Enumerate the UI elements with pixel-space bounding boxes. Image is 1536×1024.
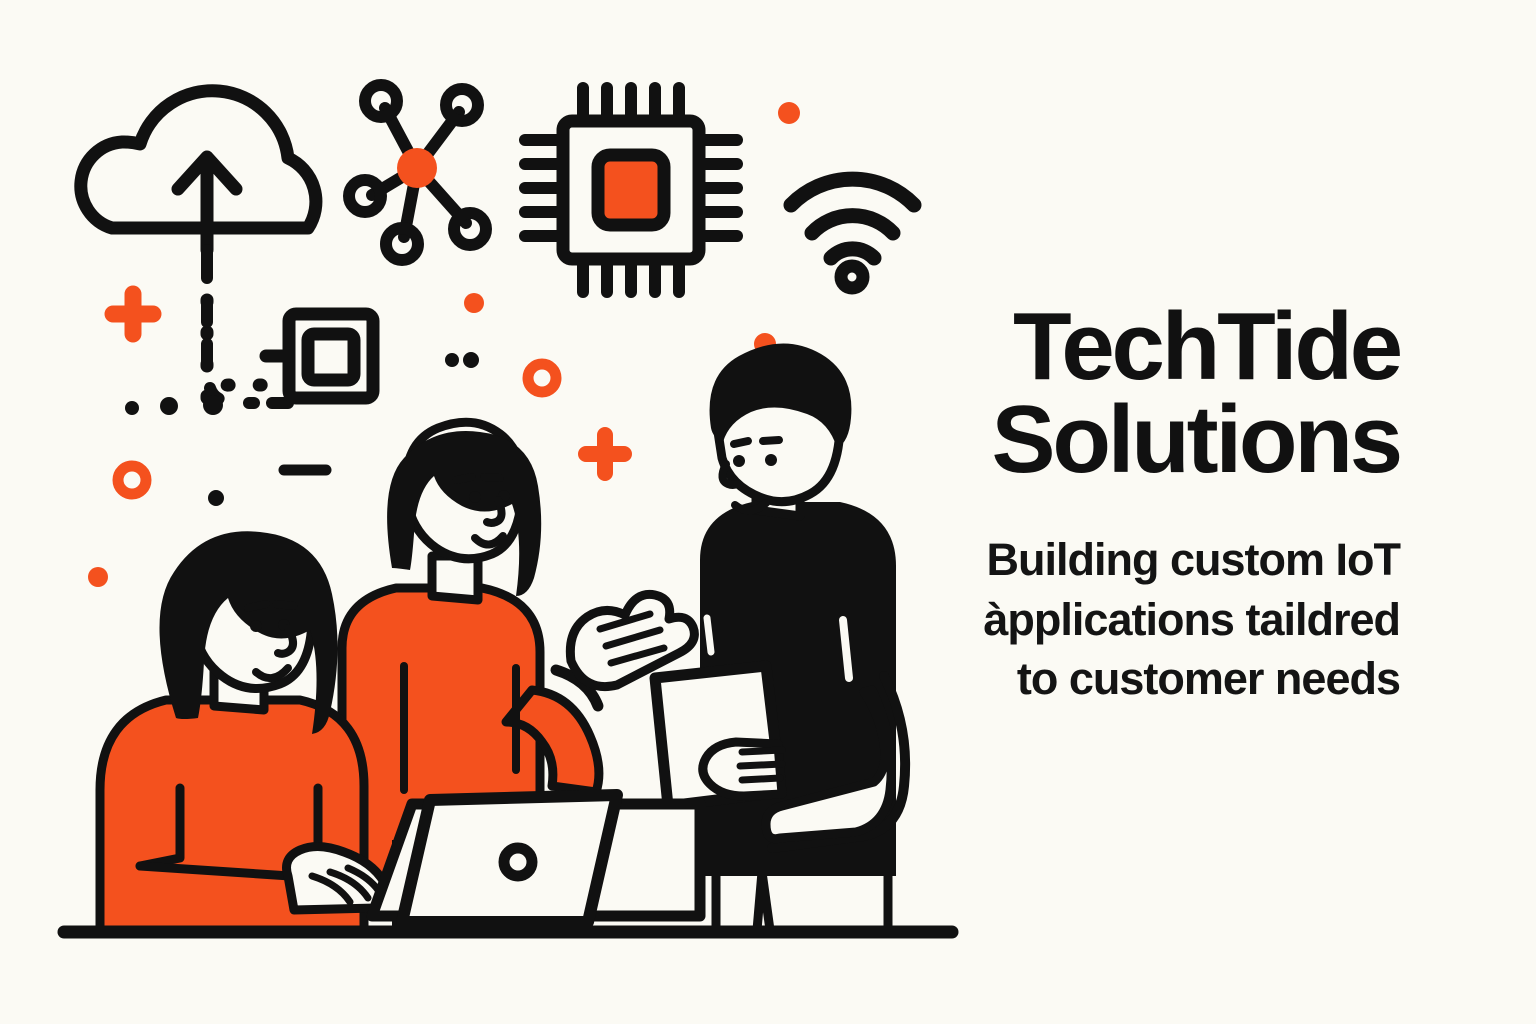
microchip-core <box>598 155 664 225</box>
network-hub-center-node <box>397 148 437 188</box>
decoration-dot-black-a <box>125 401 139 415</box>
decoration-dot-orange-a <box>88 567 108 587</box>
subhead-line-2: àpplications taildred <box>840 590 1400 649</box>
decoration-dot-black-d <box>208 490 224 506</box>
page-title: TechTide Solutions <box>840 300 1400 486</box>
poster-canvas: TechTide Solutions Building custom IoT à… <box>0 0 1536 1024</box>
decoration-dot-black-e <box>445 353 459 367</box>
subhead-line-1: Building custom IoT <box>840 530 1400 589</box>
decoration-dot-orange-b <box>464 293 484 313</box>
decoration-dot-black-b <box>160 397 178 415</box>
brand-text-block: TechTide Solutions Building custom IoT à… <box>840 300 1400 708</box>
headline-line-1: TechTide <box>1013 293 1400 400</box>
page-subtitle: Building custom IoT àpplications taildre… <box>840 530 1400 708</box>
headline-line-2: Solutions <box>840 393 1400 486</box>
laptop <box>372 795 700 922</box>
decoration-dot-orange-c <box>778 102 800 124</box>
decoration-dot-black-f <box>463 352 479 368</box>
subhead-line-3: to customer needs <box>840 649 1400 708</box>
decoration-dot-black-c <box>203 395 223 415</box>
